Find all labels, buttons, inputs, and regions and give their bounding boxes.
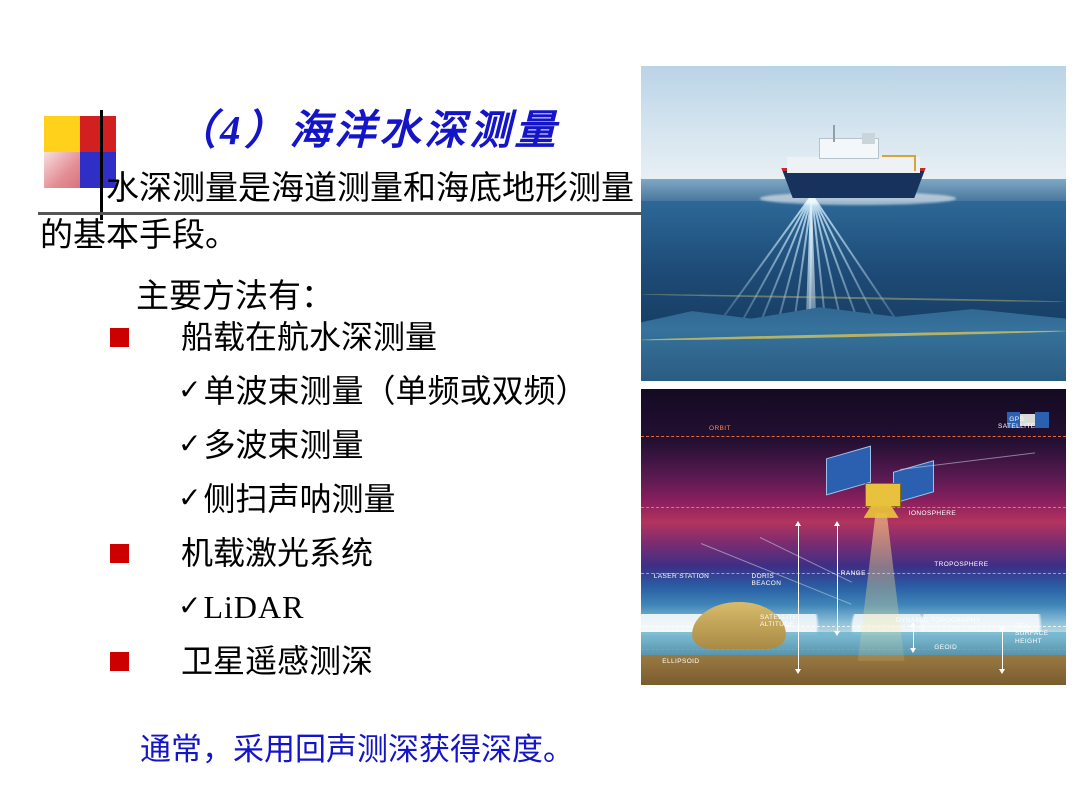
check-icon: ✓	[178, 377, 201, 405]
satellite-altitude-arrow	[798, 525, 799, 670]
footer-note: 通常，采用回声测深获得深度。	[140, 724, 574, 769]
deco-square-yellow	[44, 116, 80, 152]
ship-funnel	[862, 133, 875, 144]
list-item-label: 单波束测量（单频或双频）	[203, 375, 587, 407]
list-item-label: 侧扫声呐测量	[203, 483, 395, 515]
list-item: 卫星遥感测深	[110, 634, 670, 688]
square-bullet-icon	[110, 652, 129, 671]
list-item-label: 船载在航水深测量	[181, 321, 437, 353]
ship-mast	[833, 125, 835, 141]
list-item-label: 机载激光系统	[181, 537, 373, 569]
slide-title: （4）海洋水深测量	[175, 96, 560, 156]
list-item: ✓ 单波束测量（单频或双频）	[110, 364, 670, 418]
list-item-label: LiDAR	[203, 591, 304, 623]
label-orbit: ORBIT	[709, 425, 731, 432]
label-troposphere: TROPOSPHERE	[934, 561, 988, 568]
label-gps-satellite: GPS SATELLITE	[998, 416, 1035, 431]
square-bullet-icon	[110, 544, 129, 563]
list-item: ✓ 侧扫声呐测量	[110, 472, 670, 526]
methods-list: 船载在航水深测量 ✓ 单波束测量（单频或双频） ✓ 多波束测量 ✓ 侧扫声呐测量…	[110, 310, 670, 688]
label-ionosphere: IONOSPHERE	[909, 510, 956, 517]
check-icon: ✓	[178, 431, 201, 459]
label-ellipsoid: ELLIPSOID	[662, 658, 699, 665]
label-geoid: GEOID	[934, 644, 957, 651]
list-item: 船载在航水深测量	[110, 310, 670, 364]
label-dynamic-topography: DYNAMIC TOPOGRAPHY	[896, 617, 981, 624]
label-doris-beacon: DORIS BEACON	[752, 573, 782, 588]
body-text-block: 水深测量是海道测量和海底地形测量的基本手段。 主要方法有：	[40, 166, 640, 321]
dynamic-topography-arrow	[913, 626, 914, 650]
ship-crane	[882, 155, 916, 171]
orbit-dotted-line	[641, 436, 1066, 437]
label-laser-station: LASER STATION	[654, 573, 710, 580]
paragraph-intro: 水深测量是海道测量和海底地形测量的基本手段。	[40, 166, 640, 260]
list-item: ✓ 多波束测量	[110, 418, 670, 472]
label-satellite-altitude: SATELLITE ALTITUDE	[760, 614, 797, 629]
sea-surface-height-arrow	[1002, 629, 1003, 670]
deco-square-red	[80, 116, 116, 152]
range-arrow	[837, 525, 838, 632]
list-item-label: 卫星遥感测深	[181, 645, 373, 677]
label-sea-surface-height: SEA SURFACE HEIGHT	[1015, 623, 1049, 645]
list-item-label: 多波束测量	[203, 429, 363, 461]
survey-ship-sonar-image	[641, 66, 1066, 381]
check-icon: ✓	[178, 593, 201, 621]
check-icon: ✓	[178, 485, 201, 513]
satellite-altimetry-image: ORBIT GPS SATELLITE IONOSPHERE TROPOSPHE…	[641, 389, 1066, 685]
label-range: RANGE	[841, 570, 866, 577]
list-item: ✓ LiDAR	[110, 580, 670, 634]
research-vessel	[781, 135, 926, 198]
list-item: 机载激光系统	[110, 526, 670, 580]
square-bullet-icon	[110, 328, 129, 347]
